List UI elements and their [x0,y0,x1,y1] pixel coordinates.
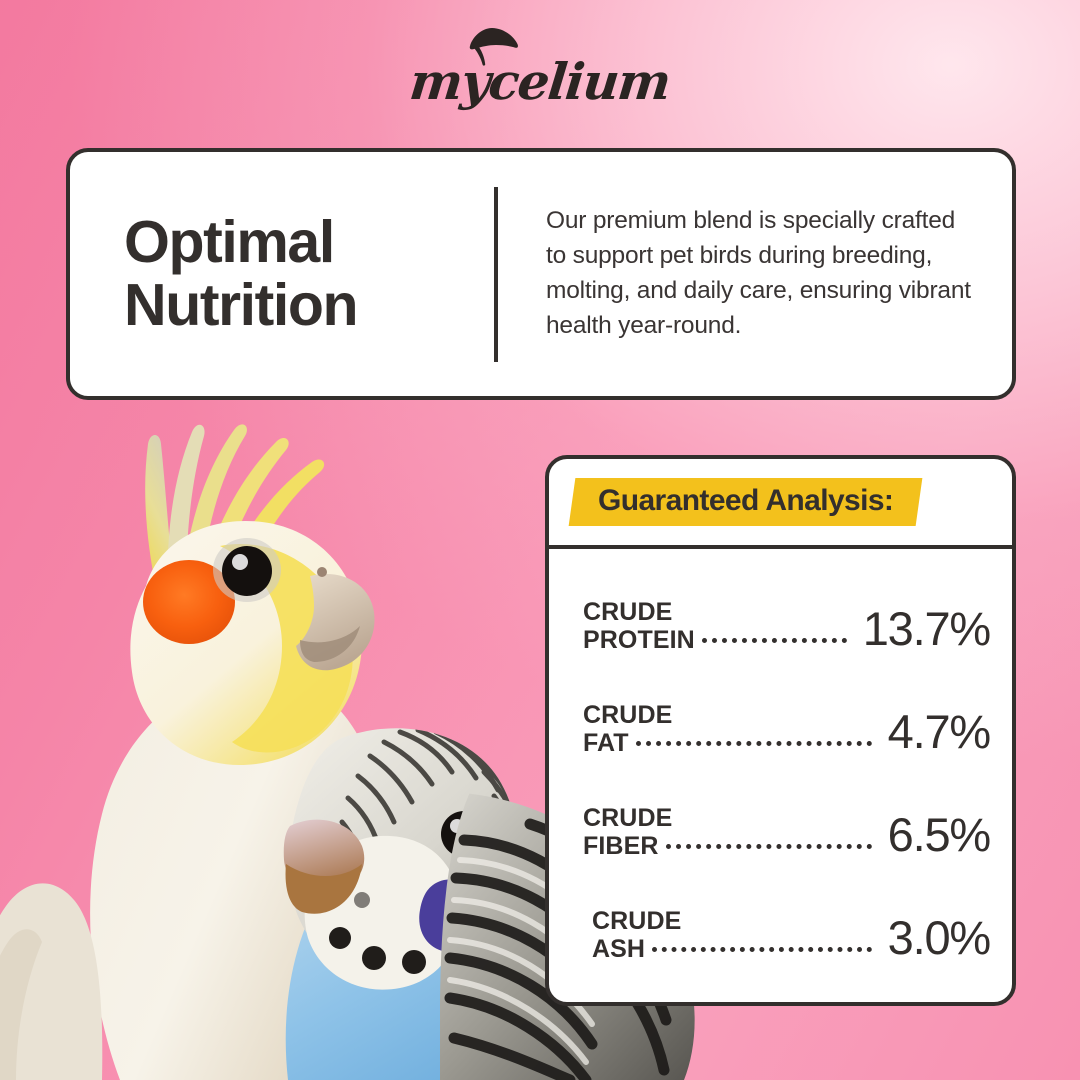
analysis-row-label: CRUDE ASH [592,907,872,963]
leader-dots [702,638,847,643]
analysis-row-label: CRUDE PROTEIN [583,598,847,654]
analysis-row-crude-fiber: CRUDE FIBER 6.5% [583,804,990,860]
analysis-label-line2: FAT [583,729,629,757]
analysis-row-crude-ash: CRUDE ASH 3.0% [583,907,990,963]
leader-dots [652,947,872,952]
hero-card: Optimal Nutrition Our premium blend is s… [66,148,1016,400]
analysis-label-line1: CRUDE [583,701,872,729]
analysis-label-line2: FIBER [583,832,659,860]
analysis-value: 13.7% [853,605,990,654]
analysis-value: 4.7% [878,708,990,757]
guaranteed-analysis-card: Guaranteed Analysis: CRUDE PROTEIN 13.7%… [545,455,1016,1006]
page-title: Optimal Nutrition [70,211,480,336]
analysis-label-line2: PROTEIN [583,626,695,654]
brand-logo: mycelium [0,26,1080,107]
leader-dots [636,741,872,746]
analysis-value: 3.0% [878,914,990,963]
analysis-heading-banner: Guaranteed Analysis: [572,478,919,526]
brand-name: mycelium [408,57,673,107]
analysis-label-line1: CRUDE [583,598,847,626]
analysis-row-label: CRUDE FIBER [583,804,872,860]
analysis-heading-text: Guaranteed Analysis: [598,484,893,517]
analysis-row-crude-fat: CRUDE FAT 4.7% [583,701,990,757]
analysis-row-label: CRUDE FAT [583,701,872,757]
analysis-header: Guaranteed Analysis: [549,459,1012,549]
hero-description: Our premium blend is specially crafted t… [498,204,1012,343]
analysis-row-crude-protein: CRUDE PROTEIN 13.7% [583,598,990,654]
analysis-rows: CRUDE PROTEIN 13.7% CRUDE FAT 4.7% CRUDE [549,549,1012,1002]
analysis-label-line2: ASH [592,935,645,963]
leader-dots [666,844,872,849]
analysis-label-line1: CRUDE [592,907,872,935]
analysis-label-line1: CRUDE [583,804,872,832]
analysis-value: 6.5% [878,811,990,860]
